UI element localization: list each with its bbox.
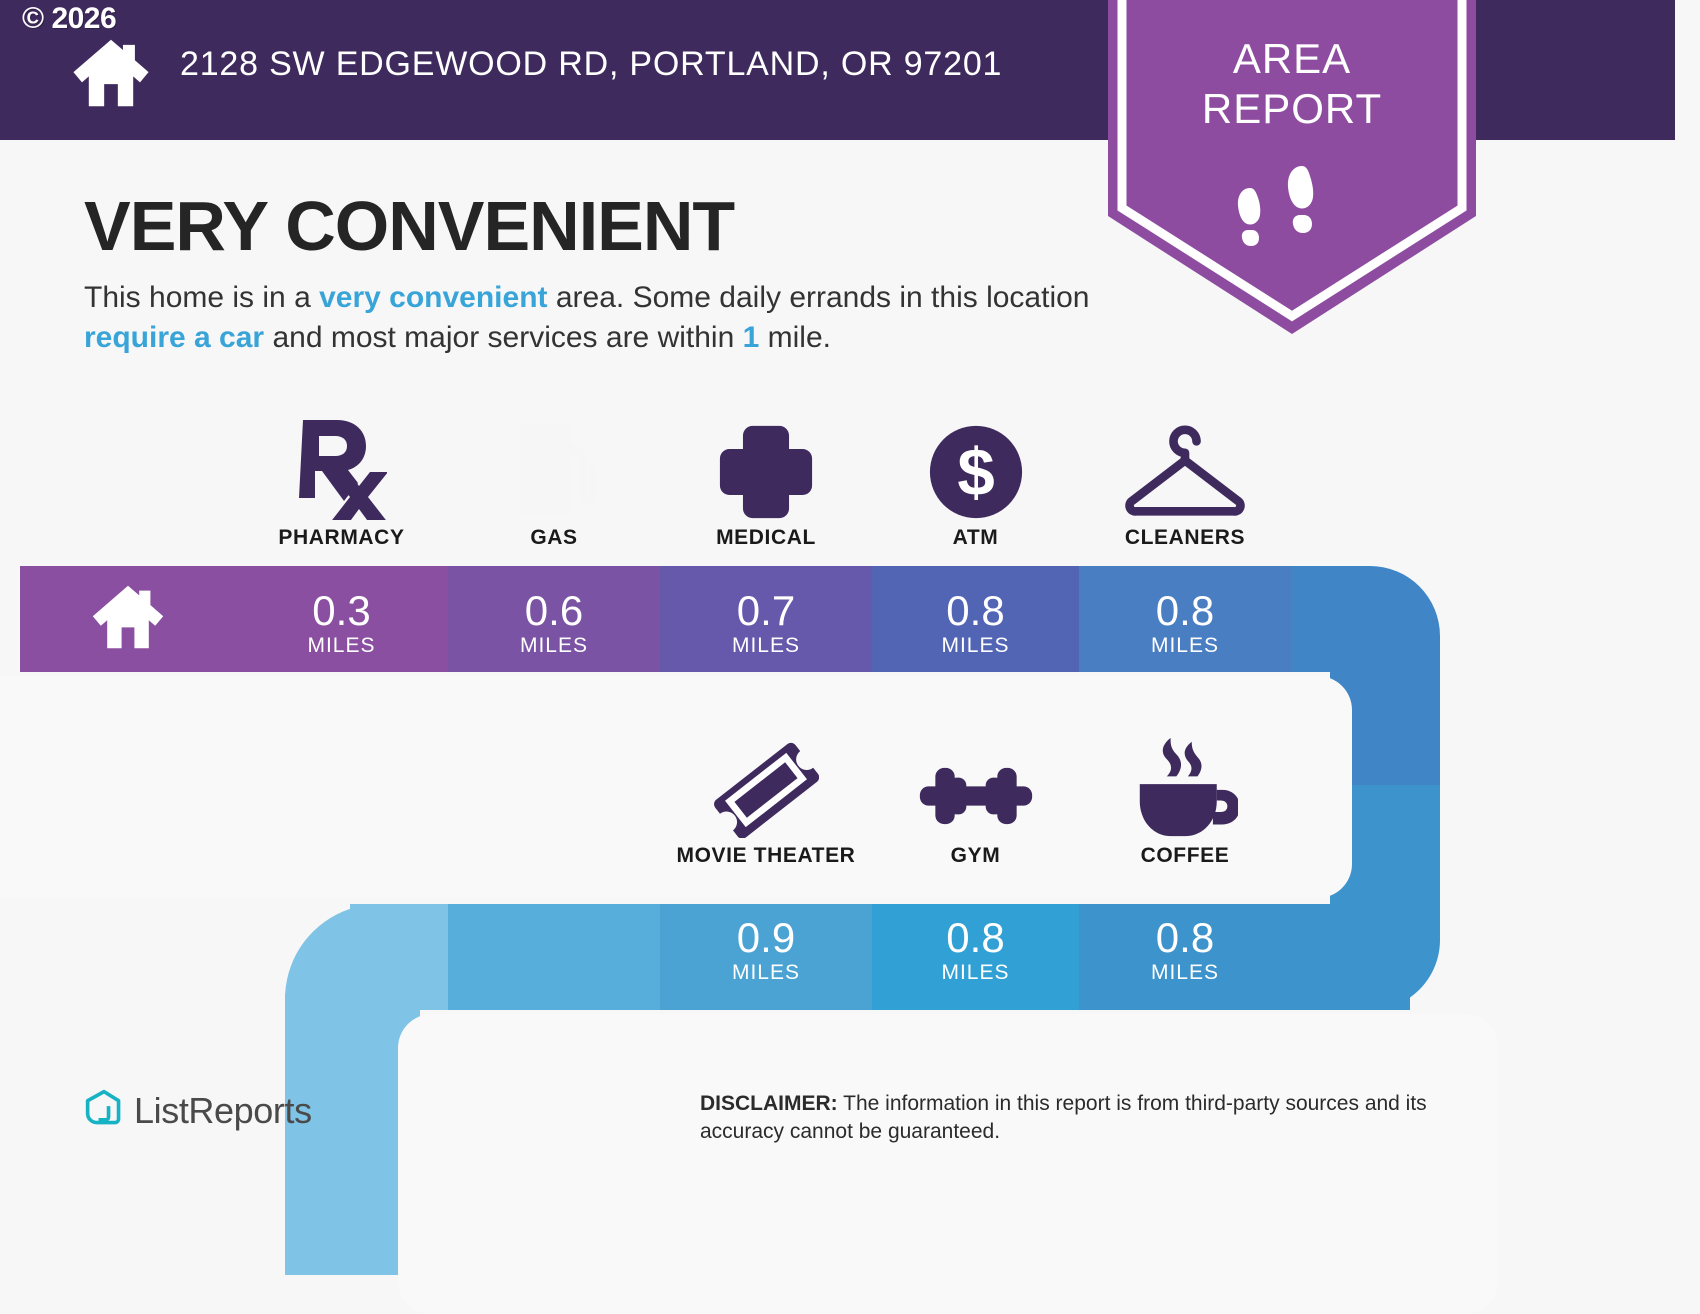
track-segment-blank-2	[448, 900, 660, 1020]
poi-gas: GAS	[448, 412, 660, 550]
coffee-cup-icon	[1079, 730, 1291, 838]
dollar-circle-icon: $	[872, 412, 1079, 520]
poi-label: PHARMACY	[235, 526, 448, 550]
gas-pump-icon	[448, 412, 660, 520]
poi-label: GYM	[872, 844, 1079, 868]
distance-gas: 0.6 MILES	[448, 588, 660, 658]
distance-unit: MILES	[1079, 961, 1291, 985]
poi-label: MOVIE THEATER	[660, 844, 872, 868]
rx-icon	[235, 412, 448, 520]
ticket-icon	[660, 730, 872, 838]
poi-label: ATM	[872, 526, 1079, 550]
distance-value: 0.7	[660, 588, 872, 634]
distance-atm: 0.8 MILES	[872, 588, 1079, 658]
distance-medical: 0.7 MILES	[660, 588, 872, 658]
distance-pharmacy: 0.3 MILES	[235, 588, 448, 658]
home-start-icon	[88, 584, 168, 650]
distance-cleaners: 0.8 MILES	[1079, 588, 1291, 658]
distance-gym: 0.8 MILES	[872, 915, 1079, 985]
distance-unit: MILES	[448, 634, 660, 658]
poi-pharmacy: PHARMACY	[235, 412, 448, 550]
poi-atm: $ ATM	[872, 412, 1079, 550]
track-segment-turn-top	[1291, 560, 1491, 680]
listreports-wordmark: ListReports	[134, 1090, 312, 1132]
poi-label: MEDICAL	[660, 526, 872, 550]
distance-value: 0.9	[660, 915, 872, 961]
listreports-house-icon	[84, 1088, 124, 1133]
listreports-logo[interactable]: ListReports	[84, 1088, 312, 1133]
distance-value: 0.8	[872, 915, 1079, 961]
poi-gym: GYM	[872, 730, 1079, 868]
medical-cross-icon	[660, 412, 872, 520]
distance-unit: MILES	[872, 961, 1079, 985]
distance-unit: MILES	[1079, 634, 1291, 658]
distance-unit: MILES	[660, 634, 872, 658]
disclaimer: DISCLAIMER: The information in this repo…	[700, 1090, 1500, 1146]
svg-text:$: $	[957, 435, 994, 510]
overlay-card-bottom	[398, 1014, 1498, 1314]
hanger-icon	[1079, 412, 1291, 520]
distance-unit: MILES	[235, 634, 448, 658]
poi-label: CLEANERS	[1079, 526, 1291, 550]
distance-movie-theater: 0.9 MILES	[660, 915, 872, 985]
poi-cleaners: CLEANERS	[1079, 412, 1291, 550]
distance-coffee: 0.8 MILES	[1079, 915, 1291, 985]
distance-unit: MILES	[872, 634, 1079, 658]
disclaimer-label: DISCLAIMER:	[700, 1092, 838, 1115]
poi-coffee: COFFEE	[1079, 730, 1291, 868]
dumbbell-icon	[872, 730, 1079, 838]
distance-unit: MILES	[660, 961, 872, 985]
distance-value: 0.3	[235, 588, 448, 634]
track-segment-turn-bottom	[270, 900, 448, 1020]
distance-value: 0.6	[448, 588, 660, 634]
distance-value: 0.8	[1079, 588, 1291, 634]
poi-label: GAS	[448, 526, 660, 550]
distance-value: 0.8	[1079, 915, 1291, 961]
distance-value: 0.8	[872, 588, 1079, 634]
poi-label: COFFEE	[1079, 844, 1291, 868]
poi-movie-theater: MOVIE THEATER	[660, 730, 872, 868]
poi-medical: MEDICAL	[660, 412, 872, 550]
